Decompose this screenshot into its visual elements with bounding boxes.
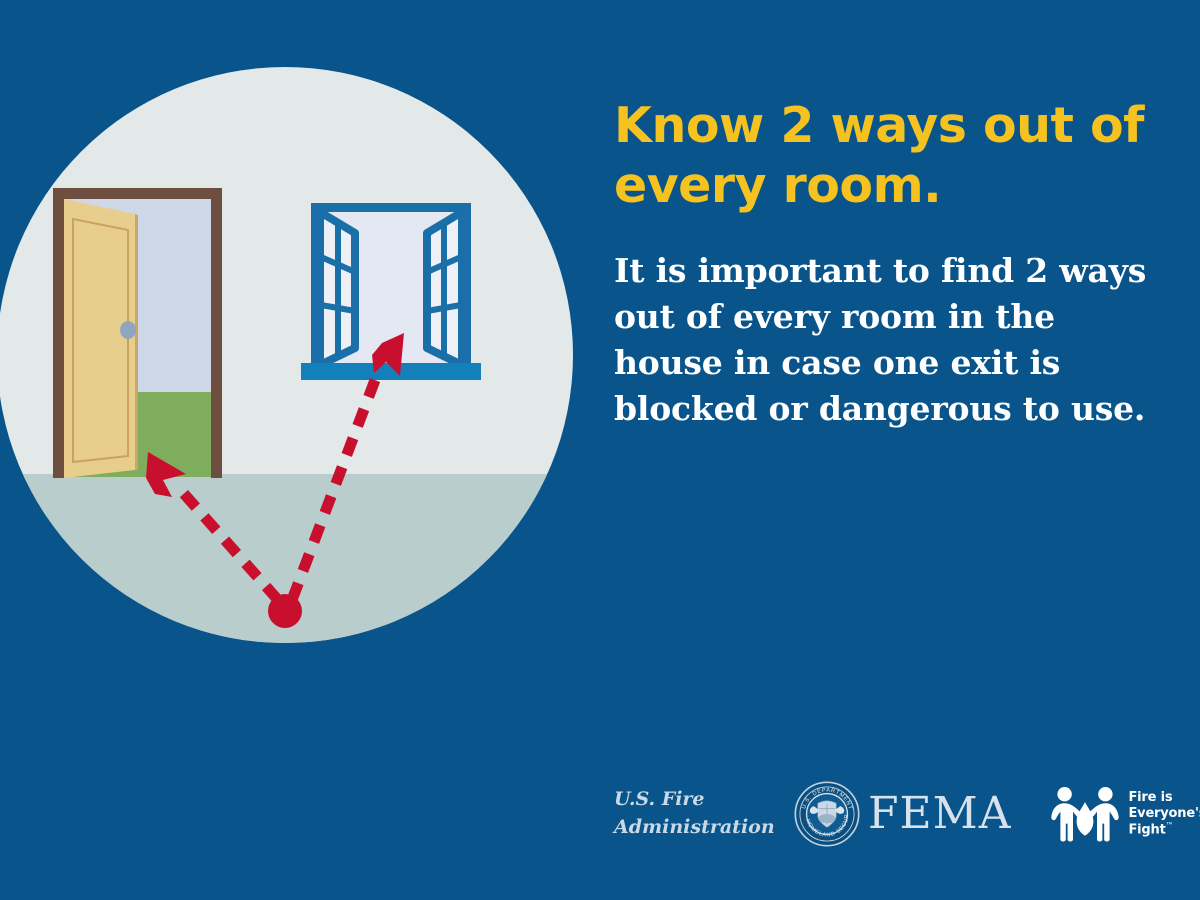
fief-line3: Fight™ [1128,821,1200,838]
fema-lockup: U.S. DEPARTMENT OF HOMELAND SECURITY FEM… [794,781,1011,847]
page-title: Know 2 ways out of every room. [614,96,1154,216]
fief-line3-text: Fight [1128,822,1165,837]
poster-canvas: Know 2 ways out of every room. It is imp… [0,0,1200,900]
fire-is-everyones-fight-lockup: Fire is Everyone's Fight™ [1049,784,1200,844]
dhs-seal-icon: U.S. DEPARTMENT OF HOMELAND SECURITY [794,781,860,847]
door-leaf [64,199,135,478]
door-frame-head [53,188,222,199]
trademark-symbol: ™ [1166,821,1174,830]
fief-line2: Everyone's [1128,806,1200,821]
door-group [53,188,222,478]
fire-is-everyones-fight-icon [1049,784,1121,844]
scene-circle [0,0,600,700]
person-position-dot [268,594,302,628]
fief-line1: Fire is [1128,790,1200,805]
usfa-wordmark-line2: Administration [614,814,754,842]
door-frame-right-jamb [211,188,222,478]
door-frame-left-jamb [53,188,64,478]
door-knob-icon [120,321,136,339]
usfa-wordmark: U.S. Fire Administration [614,786,754,841]
usfa-wordmark-line1: U.S. Fire [614,786,754,814]
fire-is-everyones-fight-wordmark: Fire is Everyone's Fight™ [1128,790,1200,837]
footer-logo-bar: U.S. Fire Administration U. [614,775,1159,853]
escape-plan-illustration [0,0,600,700]
fema-wordmark: FEMA [868,792,1011,836]
body-paragraph: It is important to find 2 ways out of ev… [614,248,1154,433]
text-column: Know 2 ways out of every room. It is imp… [614,96,1154,432]
door-leaf-edge [135,214,138,470]
